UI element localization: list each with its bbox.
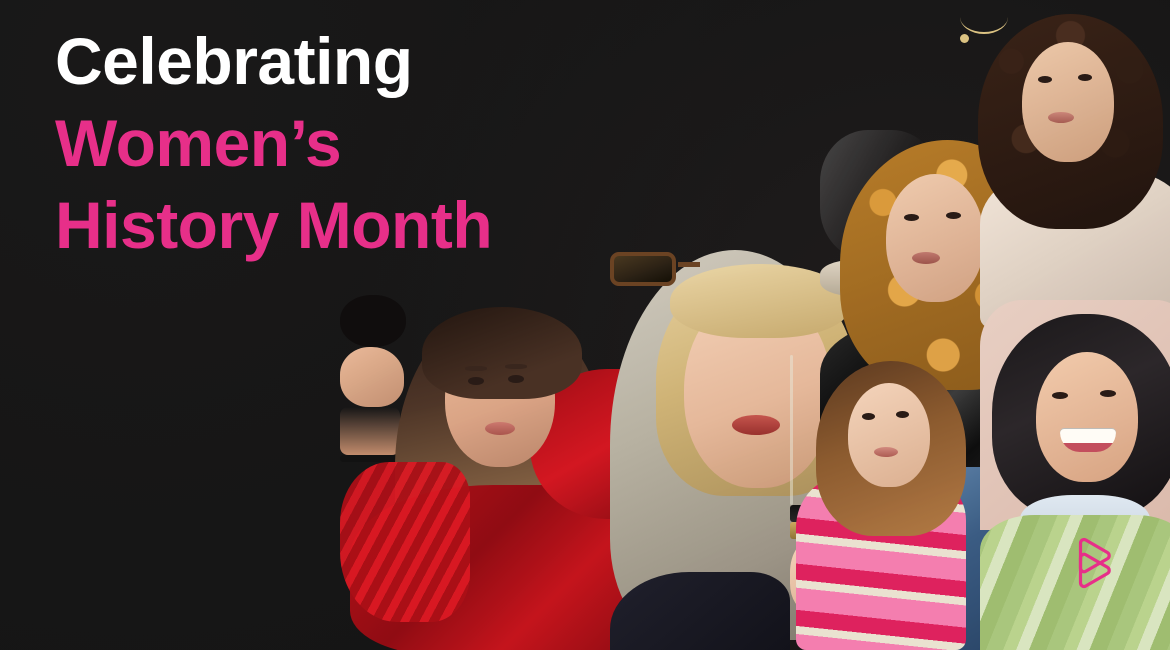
face — [848, 383, 930, 487]
eye-left — [1052, 392, 1068, 399]
eye-right — [508, 375, 524, 383]
sunglass-bridge — [678, 262, 700, 267]
headline-line-1: Celebrating — [55, 20, 492, 102]
headline-line-2: Women’s — [55, 102, 492, 184]
page-title: Celebrating Women’s History Month — [55, 20, 492, 266]
neck — [340, 407, 400, 455]
lips — [732, 415, 780, 435]
necklace-chain — [960, 0, 1008, 34]
photo-woman-smiling-green-knit-vest — [980, 300, 1170, 650]
photo-inner — [980, 300, 1170, 650]
eyebrow-right — [505, 364, 527, 369]
lips — [1048, 112, 1074, 123]
photo-woman-curly-hair-cream-sweatshirt — [960, 0, 1170, 330]
lips — [874, 447, 898, 457]
eye-left — [904, 214, 919, 221]
denim-seam — [790, 355, 793, 505]
face — [1022, 42, 1114, 162]
blouse-ruffles — [340, 462, 470, 622]
sunglass-lens-left — [610, 252, 676, 286]
photo-inner — [960, 0, 1170, 330]
lips — [912, 252, 940, 264]
headline-line-3: History Month — [55, 184, 492, 266]
hair-front — [422, 307, 582, 399]
eyebrow-left — [465, 366, 487, 371]
eye-right — [1100, 390, 1116, 397]
eye-right — [946, 212, 961, 219]
lips — [485, 422, 515, 435]
necklace-pendant — [960, 34, 969, 43]
eye-left — [468, 377, 484, 385]
eye-right — [1078, 74, 1092, 81]
hand — [340, 347, 404, 407]
banner-root: Celebrating Women’s History Month — [0, 0, 1170, 650]
black-cuff — [340, 295, 406, 347]
smile-mouth — [1060, 428, 1116, 452]
eye-left — [862, 413, 875, 420]
face — [1036, 352, 1138, 482]
eye-right — [896, 411, 909, 418]
play-double-triangle-logo-icon[interactable] — [1073, 537, 1119, 589]
eye-left — [1038, 76, 1052, 83]
